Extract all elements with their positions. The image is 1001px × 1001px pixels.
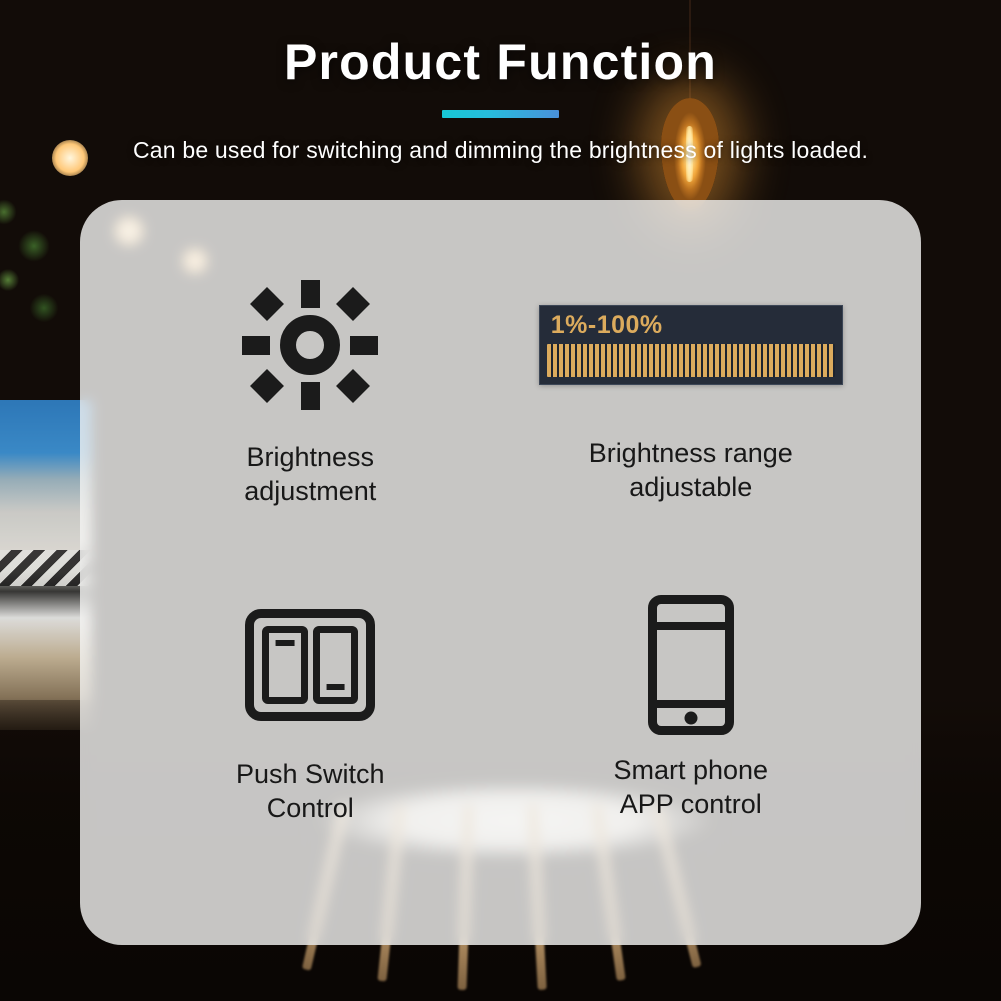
phone-speaker-bar <box>657 604 725 630</box>
feature-label: Smart phone APP control <box>613 753 768 822</box>
page-subtitle: Can be used for switching and dimming th… <box>0 137 1001 164</box>
feature-smartphone-app-control: Smart phone APP control <box>501 579 882 902</box>
switch-rocker-left <box>262 626 308 704</box>
feature-grid: Brightness adjustment 1%-100% Brightness… <box>80 200 921 945</box>
feature-card: Brightness adjustment 1%-100% Brightness… <box>80 200 921 945</box>
feature-label: Brightness adjustment <box>244 440 376 509</box>
feature-icon-wrap <box>648 579 734 751</box>
background-foliage <box>0 188 76 348</box>
phone-home-bar <box>657 700 725 726</box>
sun-brightness-icon <box>242 280 378 410</box>
feature-push-switch-control: Push Switch Control <box>120 579 501 902</box>
switch-rocker-right <box>313 626 359 704</box>
background-left-window <box>0 400 92 730</box>
phone-screen <box>657 630 725 700</box>
range-slider-bars <box>547 344 835 377</box>
title-accent-divider <box>442 110 559 118</box>
page-title: Product Function <box>0 36 1001 89</box>
feature-icon-wrap <box>242 256 378 434</box>
wall-switch-icon <box>245 609 375 721</box>
feature-label: Push Switch Control <box>236 757 385 826</box>
feature-brightness-range: 1%-100% Brightness range adjustable <box>501 256 882 579</box>
header: Product Function Can be used for switchi… <box>0 36 1001 164</box>
product-function-banner: Product Function Can be used for switchi… <box>0 0 1001 1001</box>
feature-icon-wrap: 1%-100% <box>539 256 843 434</box>
smartphone-icon <box>648 595 734 735</box>
range-value-label: 1%-100% <box>551 313 835 338</box>
phone-home-button <box>684 711 697 724</box>
feature-icon-wrap <box>245 579 375 751</box>
range-slider-panel: 1%-100% <box>539 305 843 385</box>
feature-brightness-adjustment: Brightness adjustment <box>120 256 501 579</box>
feature-label: Brightness range adjustable <box>589 436 793 505</box>
